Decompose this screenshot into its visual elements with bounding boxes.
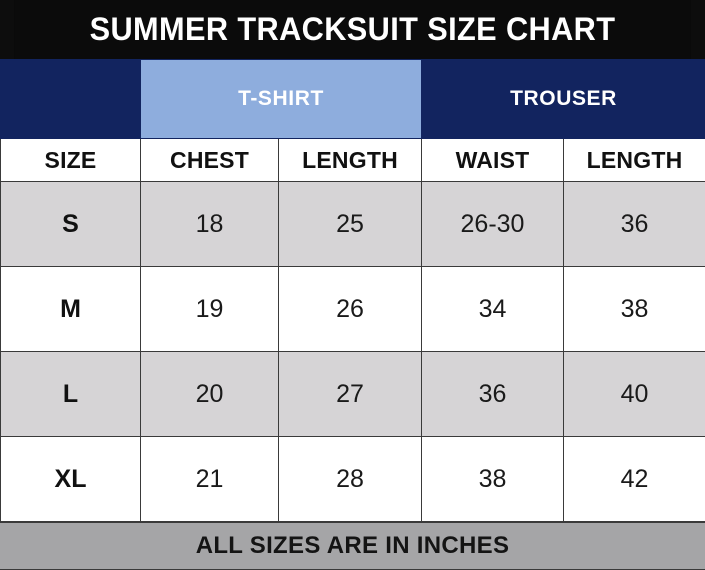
column-header-trouser-length: LENGTH [564,139,705,182]
size-chart-table: T-SHIRT TROUSER SIZE CHEST LENGTH WAIST … [0,59,705,522]
cell-waist: 26-30 [422,182,564,267]
cell-tshirt-length: 26 [279,267,422,352]
group-header-row: T-SHIRT TROUSER [1,60,705,139]
cell-chest: 19 [141,267,279,352]
cell-trouser-length: 42 [564,437,705,522]
cell-size: L [1,352,141,437]
group-tshirt-cell: T-SHIRT [141,60,422,139]
column-header-size: SIZE [1,139,141,182]
column-header-chest: CHEST [141,139,279,182]
size-chart-root: SUMMER TRACKSUIT SIZE CHART T-SHIRT TROU… [0,0,705,570]
cell-size: S [1,182,141,267]
cell-waist: 38 [422,437,564,522]
cell-size: M [1,267,141,352]
cell-chest: 20 [141,352,279,437]
cell-size: XL [1,437,141,522]
cell-waist: 36 [422,352,564,437]
cell-chest: 18 [141,182,279,267]
table-row: S 18 25 26-30 36 [1,182,705,267]
cell-chest: 21 [141,437,279,522]
column-header-waist: WAIST [422,139,564,182]
cell-tshirt-length: 25 [279,182,422,267]
cell-tshirt-length: 27 [279,352,422,437]
group-trouser-cell: TROUSER [422,60,705,139]
column-header-row: SIZE CHEST LENGTH WAIST LENGTH [1,139,705,182]
table-row: M 19 26 34 38 [1,267,705,352]
cell-waist: 34 [422,267,564,352]
cell-trouser-length: 40 [564,352,705,437]
chart-title: SUMMER TRACKSUIT SIZE CHART [14,0,691,59]
cell-tshirt-length: 28 [279,437,422,522]
footer-note: ALL SIZES ARE IN INCHES [0,522,705,570]
cell-trouser-length: 36 [564,182,705,267]
group-blank-cell [1,60,141,139]
table-row: XL 21 28 38 42 [1,437,705,522]
table-row: L 20 27 36 40 [1,352,705,437]
cell-trouser-length: 38 [564,267,705,352]
column-header-tshirt-length: LENGTH [279,139,422,182]
